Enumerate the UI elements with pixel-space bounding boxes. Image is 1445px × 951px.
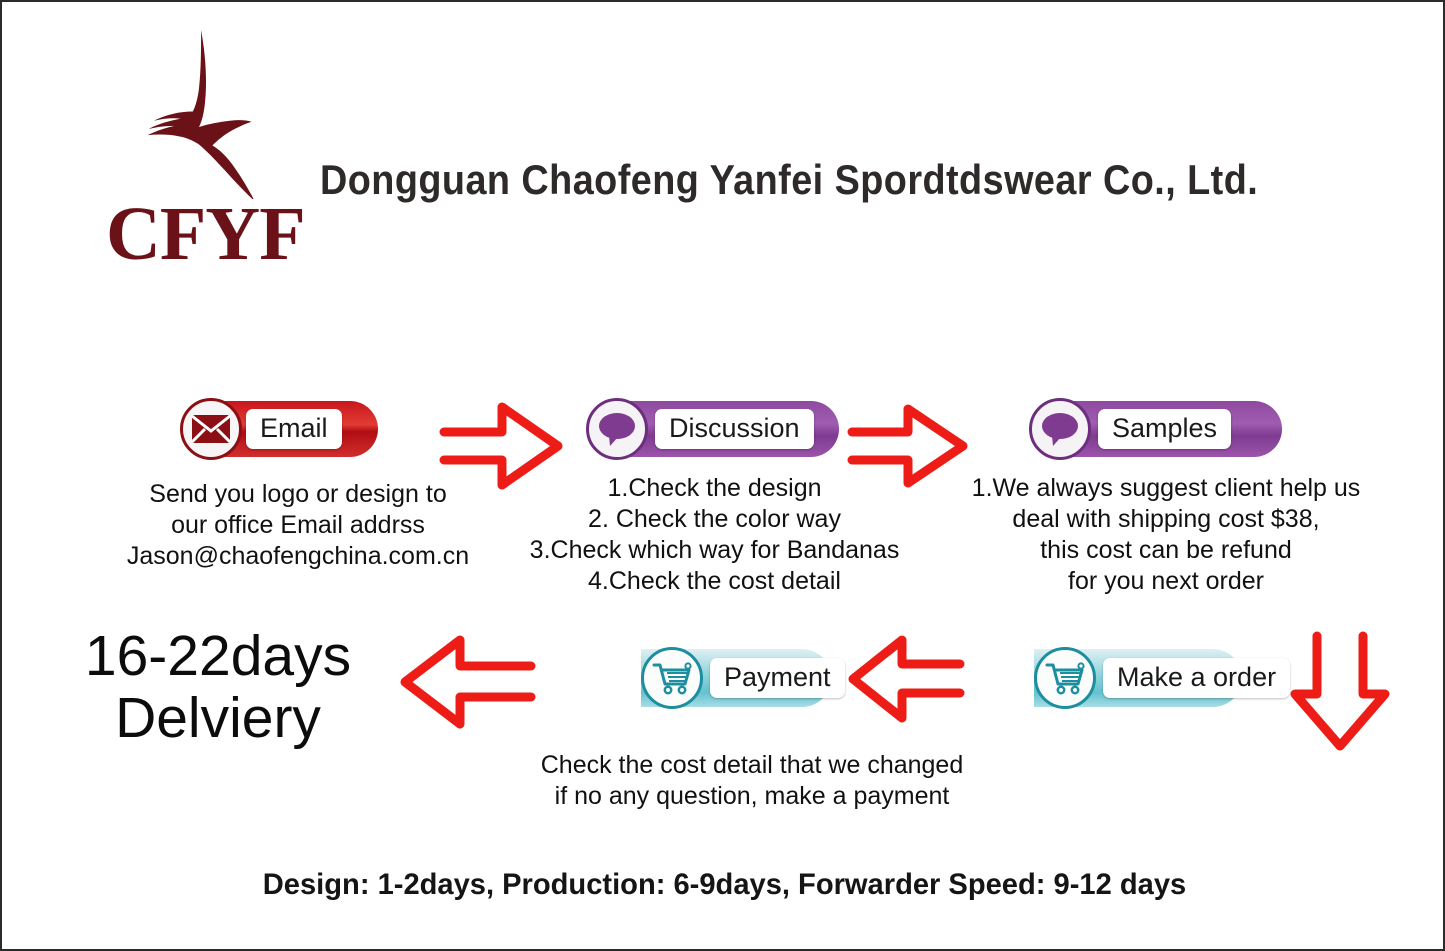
shopping-cart-icon bbox=[641, 647, 703, 709]
arrow-left-makeorder-to-payment bbox=[847, 634, 967, 729]
samples-description: 1.We always suggest client help us deal … bbox=[946, 473, 1386, 597]
delivery-word: Delviery bbox=[38, 687, 398, 749]
discussion-checklist-item: 2. Check the color way bbox=[522, 504, 907, 535]
discussion-badge-label: Discussion bbox=[655, 409, 814, 449]
discussion-checklist-item: 4.Check the cost detail bbox=[522, 566, 907, 597]
payment-description-line: if no any question, make a payment bbox=[507, 781, 997, 812]
swallow-bird-logo-icon bbox=[108, 24, 288, 199]
arrow-left-payment-to-delivery bbox=[398, 634, 538, 735]
payment-description-line: Check the cost detail that we changed bbox=[507, 750, 997, 781]
payment-description: Check the cost detail that we changed if… bbox=[507, 750, 997, 812]
samples-description-line: deal with shipping cost $38, bbox=[946, 504, 1386, 535]
makeorder-badge-label: Make a order bbox=[1103, 658, 1290, 698]
step-badge-make-a-order[interactable]: Make a order bbox=[1034, 647, 1290, 709]
shopping-cart-icon bbox=[1034, 647, 1096, 709]
infographic-page: CFYF Dongguan Chaofeng Yanfei Spordtdswe… bbox=[0, 0, 1445, 951]
step-badge-email[interactable]: Email bbox=[180, 398, 342, 460]
samples-description-line: 1.We always suggest client help us bbox=[946, 473, 1386, 504]
delivery-duration: 16-22days bbox=[38, 625, 398, 687]
samples-description-line: this cost can be refund bbox=[946, 535, 1386, 566]
email-badge-label: Email bbox=[246, 409, 342, 449]
delivery-time-callout: 16-22days Delviery bbox=[38, 625, 398, 749]
speech-bubble-icon bbox=[1029, 398, 1091, 460]
arrow-down-samples-to-makeorder bbox=[1290, 630, 1390, 757]
speech-bubble-icon bbox=[586, 398, 648, 460]
footer-summary: Design: 1-2days, Production: 6-9days, Fo… bbox=[24, 868, 1426, 902]
payment-badge-label: Payment bbox=[710, 658, 845, 698]
discussion-checklist-item: 3.Check which way for Bandanas bbox=[522, 535, 907, 566]
step-badge-discussion[interactable]: Discussion bbox=[586, 398, 814, 460]
email-description-line: our office Email addrss bbox=[88, 510, 508, 541]
company-title: Dongguan Chaofeng Yanfei Spordtdswear Co… bbox=[320, 154, 1265, 206]
samples-description-line: for you next order bbox=[946, 566, 1386, 597]
step-badge-samples[interactable]: Samples bbox=[1029, 398, 1231, 460]
samples-badge-label: Samples bbox=[1098, 409, 1231, 449]
envelope-icon bbox=[180, 398, 242, 460]
email-address-line: Jason@chaofengchina.com.cn bbox=[88, 541, 508, 572]
cfyf-wordmark: CFYF bbox=[106, 198, 306, 270]
step-badge-payment[interactable]: Payment bbox=[641, 647, 845, 709]
